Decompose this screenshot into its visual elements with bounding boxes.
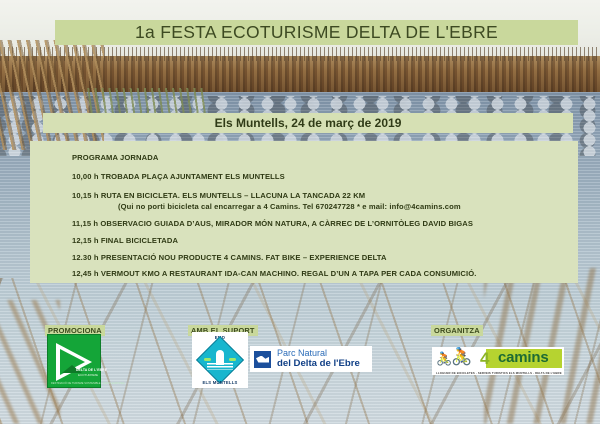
logo-emd-els-muntells-icon: EMD ELS MUNTELLS: [192, 332, 248, 388]
poster-root: 1a FESTA ECOTURISME DELTA DE L'EBRE Els …: [0, 0, 600, 424]
program-item-1245: 12,45 h VERMOUT KMO A RESTAURANT IDA-CAN…: [72, 269, 476, 278]
background-blurred-stems-right: [484, 268, 600, 424]
logo-promociona-line1: DELTA DE L'EBRE: [76, 368, 107, 372]
page-title: 1a FESTA ECOTURISME DELTA DE L'EBRE: [135, 22, 498, 43]
cyclist-small-icon: 🚴: [436, 352, 452, 365]
logo-parc-natural-delta-ebre: Parc Natural del Delta de l'Ebre: [250, 346, 372, 372]
poster-date-bar: Els Muntells, 24 de març de 2019: [43, 113, 573, 133]
credit-organitza: ORGANITZA: [431, 320, 483, 338]
cyclist-large-icon: 🚴: [451, 348, 472, 365]
logo-emd-bottom-text: ELS MUNTELLS: [192, 380, 248, 385]
logo-4camins: 🚴 🚴 4 camins LLOGUER DE BICICLETES · SER…: [432, 347, 564, 375]
green-bar-right-icon: [229, 358, 236, 361]
program-item-1115: 11,15 h OBSERVACIO GUIADA D’AUS, MIRADOR…: [72, 219, 473, 228]
program-item-1000: 10,00 h TROBADA PLAÇA AJUNTAMENT ELS MUN…: [72, 172, 285, 181]
program-item-1015-note: (Qui no porti bicicleta cal encarregar a…: [118, 202, 461, 211]
logo-promociona-line2: ECOTURISME: [78, 373, 98, 377]
credit-organitza-label: ORGANITZA: [431, 325, 483, 336]
poster-title-bar: 1a FESTA ECOTURISME DELTA DE L'EBRE: [55, 20, 578, 45]
logo-parc-line2: del Delta de l'Ebre: [277, 359, 360, 369]
logo-camins-four: 4: [480, 350, 489, 367]
water-waves-icon: [207, 363, 233, 370]
parc-natural-mark-icon: [253, 350, 272, 369]
logo-ecoturisme-delta-icon: DELTA DE L'EBRE ECOTURISME DESTINACIÓ DE…: [47, 334, 101, 388]
logo-promociona-line3: DESTINACIÓ DE TURISME SOSTENIBLE · CARTA…: [51, 382, 97, 385]
event-date-location: Els Muntells, 24 de març de 2019: [215, 116, 402, 130]
program-item-1015: 10,15 h RUTA EN BICICLETA. ELS MUNTELLS …: [72, 191, 365, 200]
green-bar-left-icon: [204, 358, 211, 361]
program-panel: PROGRAMA JORNADA 10,00 h TROBADA PLAÇA A…: [30, 141, 578, 283]
logo-camins-word: camins: [498, 350, 549, 366]
program-item-1215: 12,15 h FINAL BICICLETADA: [72, 236, 178, 245]
program-item-1230: 12.30 h PRESENTACIÓ NOU PRODUCTE 4 CAMIN…: [72, 253, 387, 262]
program-heading: PROGRAMA JORNADA: [72, 153, 158, 162]
logo-camins-tagline: LLOGUER DE BICICLETES · SERVEIS TURISTIC…: [436, 371, 562, 375]
